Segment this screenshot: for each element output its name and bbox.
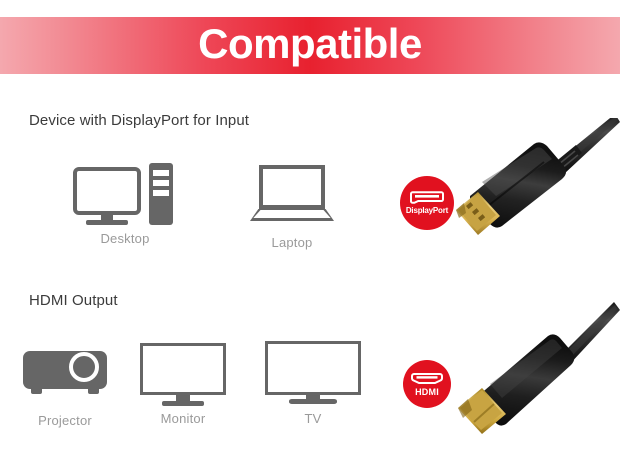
header-banner: Compatible xyxy=(0,17,620,74)
desktop-monitor-base xyxy=(86,220,128,225)
device-laptop: Laptop xyxy=(227,161,357,250)
tv-icon xyxy=(265,337,361,405)
device-row-output: Projector Monitor TV xyxy=(0,335,400,445)
projector-icon xyxy=(19,339,111,407)
compatibility-infographic: Compatible Device with DisplayPort for I… xyxy=(0,0,620,450)
laptop-icon xyxy=(250,161,334,229)
projector-foot xyxy=(88,389,99,394)
device-label-desktop: Desktop xyxy=(60,231,190,246)
device-monitor: Monitor xyxy=(118,337,248,426)
device-projector: Projector xyxy=(0,339,130,428)
projector-lens-shape xyxy=(69,352,99,382)
hdmi-badge-label: HDMI xyxy=(415,388,439,397)
displayport-badge: DisplayPort xyxy=(400,176,454,230)
device-tv: TV xyxy=(248,337,378,426)
desktop-tower-shape xyxy=(149,163,173,225)
desktop-computer-icon xyxy=(73,157,177,225)
monitor-base xyxy=(162,401,204,406)
tv-base xyxy=(289,399,337,404)
device-label-tv: TV xyxy=(248,411,378,426)
hdmi-cable-image xyxy=(452,300,620,450)
device-label-monitor: Monitor xyxy=(118,411,248,426)
projector-foot xyxy=(31,389,42,394)
device-row-input: Desktop Laptop xyxy=(0,155,400,265)
monitor-icon xyxy=(140,337,226,405)
monitor-screen-shape xyxy=(140,343,226,395)
tower-slot xyxy=(153,190,169,196)
section-heading-input: Device with DisplayPort for Input xyxy=(29,112,249,129)
hdmi-connector-icon xyxy=(411,372,443,385)
device-desktop: Desktop xyxy=(60,157,190,246)
displayport-badge-label: DisplayPort xyxy=(406,207,448,215)
section-heading-output: HDMI Output xyxy=(29,292,118,309)
hdmi-badge: HDMI xyxy=(403,360,451,408)
device-label-laptop: Laptop xyxy=(227,235,357,250)
laptop-screen-shape xyxy=(259,165,325,209)
displayport-cable-image xyxy=(452,118,620,240)
tv-screen-shape xyxy=(265,341,361,395)
tower-slot xyxy=(153,180,169,186)
desktop-monitor-shape xyxy=(73,167,141,215)
laptop-keyboard-area xyxy=(250,210,334,218)
device-label-projector: Projector xyxy=(0,413,130,428)
page-title: Compatible xyxy=(198,23,422,68)
displayport-connector-icon xyxy=(410,191,444,204)
tower-slot xyxy=(153,170,169,176)
